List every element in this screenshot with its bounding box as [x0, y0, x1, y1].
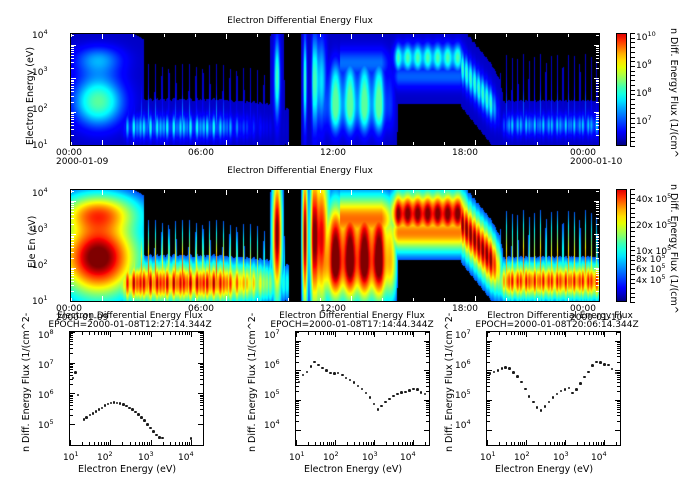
axis-tick	[596, 113, 599, 114]
axis-tick	[589, 332, 590, 335]
axis-tick	[351, 190, 352, 195]
axis-tick	[71, 55, 74, 56]
axis-tick	[596, 236, 599, 237]
axis-tick	[374, 332, 375, 337]
axis-tick	[71, 91, 74, 92]
axis-tick	[487, 430, 492, 431]
axis-tick	[487, 407, 490, 408]
axis-tick	[200, 405, 203, 406]
axis-tick	[382, 190, 383, 193]
axis-tick	[538, 442, 539, 445]
axis-tick	[565, 332, 566, 337]
data-point	[416, 388, 419, 391]
spectrum-1-ytick-2: 106	[38, 388, 54, 401]
axis-tick	[179, 332, 180, 335]
axis-tick	[170, 332, 171, 335]
axis-tick	[426, 403, 429, 404]
axis-tick	[593, 442, 594, 445]
colorbar-tick	[630, 250, 635, 251]
spectrum-2-ytick-2: 105	[264, 388, 280, 401]
colorbar-tick	[630, 38, 635, 39]
axis-tick	[195, 298, 196, 301]
axis-tick	[102, 190, 103, 195]
panel2-canvas	[71, 190, 599, 301]
data-point	[497, 369, 500, 372]
axis-tick	[71, 204, 74, 205]
data-point	[424, 393, 427, 396]
data-point	[349, 379, 352, 382]
axis-tick	[520, 332, 521, 335]
axis-tick	[101, 332, 102, 335]
data-point	[361, 388, 364, 391]
colorbar-tick	[630, 208, 635, 209]
axis-tick	[135, 442, 136, 445]
axis-tick	[537, 34, 538, 37]
axis-tick	[363, 442, 364, 445]
axis-tick	[407, 442, 408, 445]
axis-tick	[487, 353, 490, 354]
axis-tick	[70, 367, 73, 368]
data-point	[540, 409, 543, 412]
data-point	[587, 371, 590, 374]
panel1-ytick-0: 104	[32, 28, 48, 41]
axis-tick	[101, 442, 102, 445]
axis-tick	[182, 442, 183, 445]
axis-tick	[200, 402, 203, 403]
axis-tick	[200, 366, 203, 367]
axis-tick	[393, 332, 394, 335]
axis-tick	[426, 415, 429, 416]
axis-tick	[89, 442, 90, 445]
axis-tick	[594, 145, 599, 146]
axis-tick	[402, 332, 403, 335]
axis-tick	[200, 379, 203, 380]
axis-tick	[617, 412, 620, 413]
data-point	[337, 372, 340, 375]
axis-tick	[335, 440, 336, 445]
axis-tick	[200, 344, 203, 345]
axis-tick	[506, 332, 507, 335]
axis-tick	[198, 363, 203, 364]
data-point	[603, 363, 606, 366]
axis-tick	[426, 353, 429, 354]
spectrum-2-ytick-1: 106	[264, 358, 280, 371]
data-point	[524, 388, 527, 391]
axis-tick	[331, 332, 332, 335]
axis-tick	[139, 442, 140, 445]
axis-tick	[617, 356, 620, 357]
axis-tick	[487, 440, 488, 445]
axis-tick	[71, 234, 76, 235]
axis-tick	[71, 68, 74, 69]
axis-tick	[191, 332, 192, 337]
spectrum-1-ytick-1: 107	[38, 358, 54, 371]
spectrum-1-xtick-0: 101	[63, 450, 79, 463]
axis-tick	[203, 442, 204, 445]
axis-tick	[296, 391, 299, 392]
axis-tick	[296, 421, 299, 422]
axis-tick	[596, 211, 599, 212]
axis-tick	[617, 421, 620, 422]
data-point	[599, 361, 602, 364]
axis-tick	[382, 298, 383, 301]
axis-tick	[200, 348, 203, 349]
axis-tick	[487, 400, 492, 401]
axis-tick	[371, 442, 372, 445]
data-point	[107, 403, 110, 406]
axis-tick	[514, 442, 515, 445]
data-point	[571, 392, 574, 395]
colorbar-tick	[630, 118, 635, 119]
data-point	[564, 388, 567, 391]
panel2-spectrogram[interactable]	[70, 189, 600, 302]
axis-tick	[382, 34, 383, 37]
axis-tick	[195, 142, 196, 145]
axis-tick	[398, 332, 399, 335]
colorbar-tick	[630, 246, 635, 247]
axis-tick	[410, 442, 411, 445]
spectrum-2-plot[interactable]	[295, 331, 430, 446]
axis-tick	[71, 83, 74, 84]
axis-tick	[354, 442, 355, 445]
axis-tick	[323, 442, 324, 445]
data-point	[412, 388, 415, 391]
axis-tick	[200, 339, 203, 340]
data-point	[345, 377, 348, 380]
axis-tick	[71, 190, 72, 193]
axis-tick	[70, 415, 73, 416]
axis-tick	[426, 421, 429, 422]
axis-tick	[296, 348, 299, 349]
axis-tick	[200, 369, 203, 370]
axis-tick	[296, 403, 299, 404]
colorbar-tick	[630, 85, 635, 86]
panel1-spectrogram[interactable]	[70, 33, 600, 146]
axis-tick	[347, 332, 348, 335]
axis-tick	[487, 382, 490, 383]
axis-tick	[195, 190, 196, 193]
axis-tick	[596, 62, 599, 63]
axis-tick	[71, 58, 74, 59]
axis-tick	[70, 424, 75, 425]
data-point	[152, 430, 155, 433]
axis-tick	[203, 332, 204, 335]
axis-tick	[601, 442, 602, 445]
colorbar-tick	[630, 80, 635, 81]
axis-tick	[426, 362, 429, 363]
axis-tick	[70, 341, 73, 342]
colorbar-tick	[630, 132, 635, 133]
data-point	[306, 371, 309, 374]
axis-tick	[179, 442, 180, 445]
axis-tick	[617, 401, 620, 402]
axis-tick	[562, 442, 563, 445]
spectrum-3-epoch: EPOCH=2000-01-08T20:06:14.344Z	[452, 320, 662, 330]
axis-tick	[102, 296, 103, 301]
axis-tick	[70, 396, 73, 397]
axis-tick	[537, 142, 538, 145]
axis-tick	[615, 341, 620, 342]
axis-tick	[425, 442, 426, 445]
panel2-cbtick-0: 40x 105	[636, 192, 671, 205]
axis-tick	[596, 52, 599, 53]
colorbar-tick	[630, 141, 635, 142]
axis-tick	[596, 273, 599, 274]
axis-tick	[413, 440, 414, 445]
axis-tick	[487, 405, 490, 406]
axis-tick	[506, 142, 507, 145]
axis-tick	[200, 333, 203, 334]
spectrum-1-ytick-3: 105	[38, 418, 54, 431]
axis-tick	[82, 442, 83, 445]
axis-tick	[257, 142, 258, 145]
colorbar-tick	[630, 293, 635, 294]
axis-tick	[413, 190, 414, 193]
panel1-colorbar[interactable]	[616, 33, 627, 146]
axis-tick	[70, 405, 73, 406]
axis-tick	[487, 409, 490, 410]
axis-tick	[386, 442, 387, 445]
panel1-title: Electron Differential Energy Flux	[0, 16, 600, 26]
axis-tick	[71, 48, 74, 49]
axis-tick	[368, 332, 369, 335]
axis-tick	[189, 332, 190, 335]
axis-tick	[70, 372, 73, 373]
axis-tick	[135, 332, 136, 335]
axis-tick	[393, 442, 394, 445]
axis-tick	[596, 206, 599, 207]
spectrum-3-xtick-0: 101	[480, 450, 496, 463]
data-point	[548, 401, 551, 404]
axis-tick	[487, 356, 490, 357]
data-point	[595, 361, 598, 364]
axis-tick	[200, 335, 203, 336]
axis-tick	[296, 430, 301, 431]
axis-tick	[596, 46, 599, 47]
axis-tick	[577, 442, 578, 445]
axis-tick	[596, 102, 599, 103]
spectrum-3-ytick-0: 107	[455, 328, 471, 341]
axis-tick	[296, 362, 299, 363]
axis-tick	[133, 298, 134, 301]
colorbar-tick	[630, 61, 635, 62]
axis-tick	[200, 400, 203, 401]
axis-tick	[71, 208, 74, 209]
axis-tick	[426, 332, 429, 333]
axis-tick	[554, 442, 555, 445]
axis-tick	[475, 190, 476, 195]
colorbar-tick	[630, 113, 635, 114]
axis-tick	[71, 62, 74, 63]
axis-tick	[70, 344, 73, 345]
axis-tick	[596, 332, 597, 335]
colorbar-tick	[630, 283, 635, 284]
data-point	[508, 367, 511, 370]
axis-tick	[164, 190, 165, 193]
axis-tick	[187, 332, 188, 335]
axis-tick	[487, 346, 490, 347]
axis-tick	[200, 337, 203, 338]
axis-tick	[550, 332, 551, 335]
axis-tick	[71, 113, 74, 114]
axis-tick	[70, 440, 71, 445]
axis-tick	[108, 442, 109, 445]
axis-tick	[444, 34, 445, 37]
axis-tick	[296, 412, 299, 413]
axis-tick	[71, 237, 74, 238]
colorbar-tick	[630, 231, 635, 232]
axis-tick	[617, 403, 620, 404]
data-point	[341, 374, 344, 377]
axis-tick	[594, 45, 599, 46]
axis-tick	[288, 34, 289, 37]
axis-tick	[596, 204, 599, 205]
data-point	[583, 376, 586, 379]
axis-tick	[133, 34, 134, 37]
data-point	[512, 371, 515, 374]
axis-tick	[557, 442, 558, 445]
axis-tick	[226, 34, 227, 39]
axis-tick	[71, 34, 72, 37]
data-point	[501, 367, 504, 370]
axis-tick	[288, 142, 289, 145]
data-point	[321, 367, 324, 370]
axis-tick	[288, 298, 289, 301]
axis-tick	[296, 400, 301, 401]
axis-tick	[537, 298, 538, 301]
colorbar-tick	[630, 302, 635, 303]
axis-tick	[308, 442, 309, 445]
axis-tick	[596, 125, 599, 126]
axis-tick	[511, 332, 512, 335]
spectrum-1-xtick-3: 104	[178, 450, 194, 463]
colorbar-tick	[630, 269, 635, 270]
colorbar-tick	[630, 66, 635, 67]
axis-tick	[70, 332, 75, 333]
colorbar-tick	[630, 146, 635, 147]
axis-tick	[596, 269, 599, 270]
axis-tick	[511, 442, 512, 445]
axis-tick	[596, 252, 599, 253]
axis-tick	[596, 202, 599, 203]
axis-tick	[550, 442, 551, 445]
panel1-xtick-2: 12:00	[320, 148, 346, 158]
axis-tick	[596, 442, 597, 445]
axis-tick	[102, 34, 103, 39]
axis-tick	[71, 45, 76, 46]
axis-tick	[615, 430, 620, 431]
axis-tick	[226, 296, 227, 301]
axis-tick	[296, 407, 299, 408]
axis-tick	[487, 391, 490, 392]
axis-tick	[147, 442, 148, 445]
axis-tick	[405, 442, 406, 445]
axis-tick	[94, 332, 95, 335]
spectrum-3-xlabel: Electron Energy (eV)	[495, 464, 593, 475]
colorbar-tick	[630, 236, 635, 237]
axis-tick	[617, 372, 620, 373]
colorbar-tick	[630, 108, 635, 109]
axis-tick	[405, 332, 406, 335]
axis-tick	[70, 369, 73, 370]
axis-tick	[335, 332, 336, 337]
axis-tick	[71, 135, 74, 136]
axis-tick	[577, 332, 578, 335]
axis-tick	[426, 405, 429, 406]
spectrum-3-ytick-2: 105	[455, 388, 471, 401]
axis-tick	[426, 348, 429, 349]
panel1-ytick-1: 103	[32, 65, 48, 78]
data-point	[310, 365, 313, 368]
axis-tick	[71, 236, 74, 237]
axis-tick	[71, 242, 74, 243]
axis-tick	[71, 218, 74, 219]
axis-tick	[596, 58, 599, 59]
axis-tick	[70, 409, 73, 410]
axis-tick	[559, 442, 560, 445]
axis-tick	[308, 332, 309, 335]
axis-tick	[617, 407, 620, 408]
axis-tick	[424, 341, 429, 342]
axis-tick	[71, 291, 74, 292]
axis-tick	[151, 440, 152, 445]
axis-tick	[413, 332, 414, 337]
axis-tick	[70, 366, 73, 367]
axis-tick	[426, 382, 429, 383]
colorbar-tick	[630, 222, 635, 223]
axis-tick	[351, 34, 352, 39]
axis-tick	[70, 348, 73, 349]
axis-tick	[315, 442, 316, 445]
spectrum-2-ytick-0: 107	[264, 328, 280, 341]
axis-tick	[288, 190, 289, 193]
panel1-xtick-1: 06:00	[188, 148, 214, 158]
data-point	[392, 395, 395, 398]
axis-tick	[354, 332, 355, 335]
axis-tick	[475, 296, 476, 301]
spectrum-3-plot[interactable]	[486, 331, 621, 446]
spectrum-2-xtick-1: 102	[323, 450, 339, 463]
axis-tick	[110, 440, 111, 445]
axis-tick	[598, 332, 599, 335]
axis-tick	[139, 332, 140, 335]
axis-tick	[296, 377, 299, 378]
axis-tick	[70, 333, 73, 334]
axis-tick	[163, 442, 164, 445]
axis-tick	[487, 342, 490, 343]
spectrum-2-xtick-3: 104	[400, 450, 416, 463]
axis-tick	[426, 412, 429, 413]
panel2-colorbar[interactable]	[616, 189, 627, 302]
spectrum-1-plot[interactable]	[69, 331, 204, 446]
axis-tick	[596, 117, 599, 118]
panel2-ytick-3: 101	[32, 294, 48, 307]
axis-tick	[487, 401, 490, 402]
data-point	[544, 405, 547, 408]
axis-tick	[200, 353, 203, 354]
axis-tick	[200, 415, 203, 416]
colorbar-tick	[630, 99, 635, 100]
axis-tick	[596, 96, 599, 97]
spectrum-1-xlabel: Electron Energy (eV)	[78, 464, 176, 475]
axis-tick	[617, 382, 620, 383]
axis-tick	[562, 332, 563, 335]
axis-tick	[71, 244, 74, 245]
axis-tick	[557, 332, 558, 335]
data-point	[520, 381, 523, 384]
axis-tick	[368, 442, 369, 445]
spectrum-3-ytick-3: 104	[455, 418, 471, 431]
